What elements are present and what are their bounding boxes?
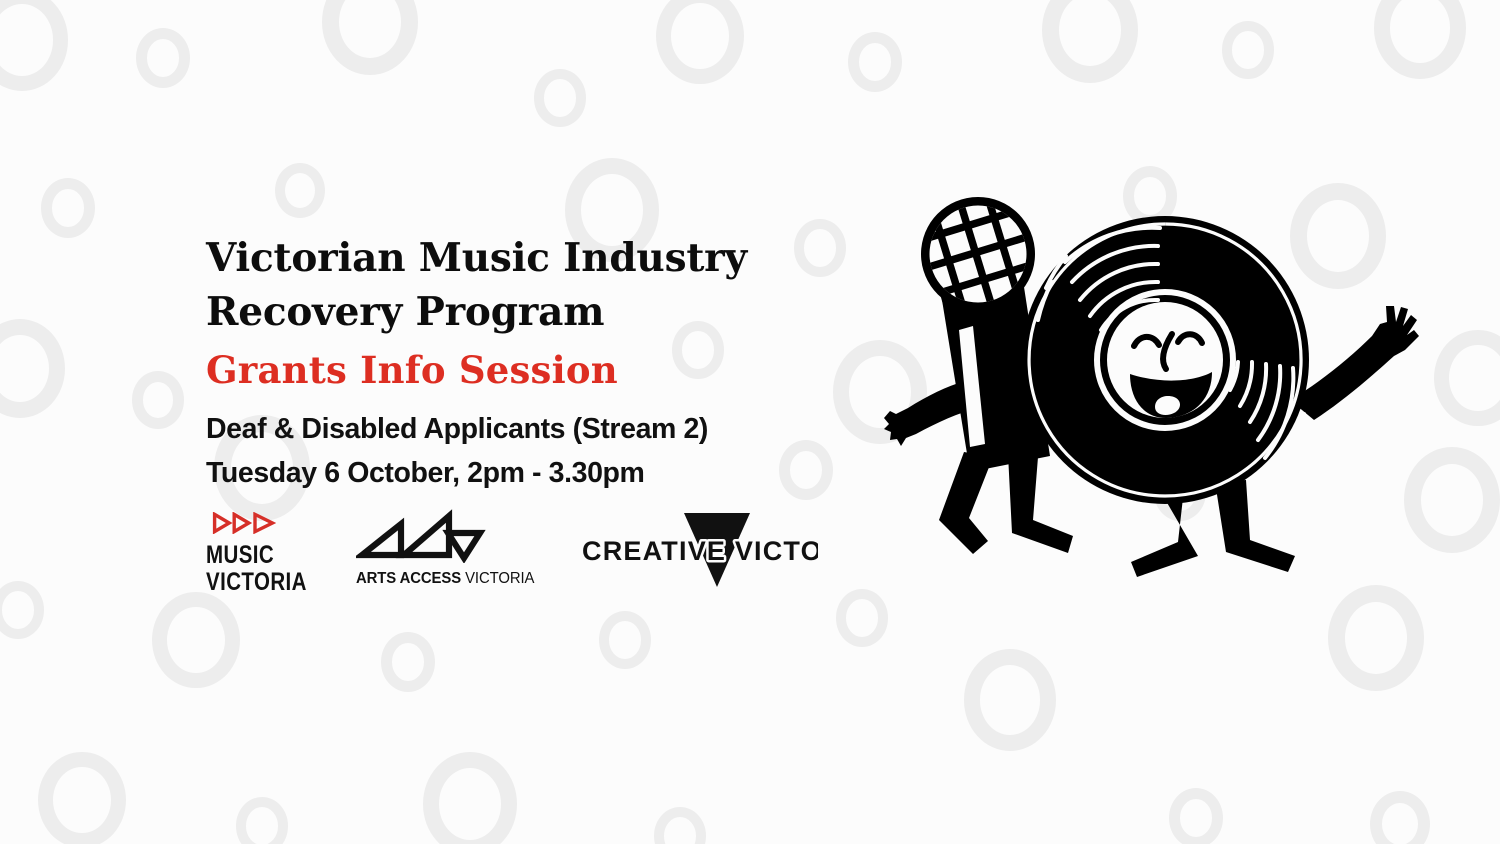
triangles-mountain-icon (356, 508, 486, 563)
background-ring (236, 797, 288, 844)
background-ring (1222, 21, 1274, 78)
background-ring (0, 0, 68, 91)
datetime-line: Tuesday 6 October, 2pm - 3.30pm (206, 452, 866, 495)
background-ring (0, 581, 44, 638)
background-ring (964, 649, 1056, 750)
headline-accent-line: Grants Info Session (206, 343, 866, 397)
aav-word-bold: ARTS ACCESS (356, 570, 461, 587)
arts-access-wordmark: ARTS ACCESS VICTORIA (356, 570, 534, 588)
background-ring (38, 752, 126, 844)
creative-victoria-mark: CREATIVE VICTORIA CREATIVE VICTORIA (578, 505, 818, 595)
background-ring (599, 611, 651, 668)
background-ring (1374, 0, 1466, 79)
background-ring (41, 178, 95, 237)
background-ring (1169, 788, 1223, 844)
background-ring (656, 0, 744, 84)
background-ring (136, 28, 190, 87)
microphone-grille-head (903, 179, 1053, 329)
music-victoria-word-1: MUSIC (206, 542, 298, 569)
audience-line: Deaf & Disabled Applicants (Stream 2) (206, 408, 866, 451)
headline-line-1: Victorian Music Industry (206, 232, 866, 284)
poster-canvas: Victorian Music Industry Recovery Progra… (0, 0, 1500, 844)
vinyl-record-character (1021, 216, 1419, 577)
logo-arts-access-victoria: ARTS ACCESS VICTORIA (356, 505, 542, 588)
logo-music-victoria: MUSIC VICTORIA (206, 505, 318, 596)
record-right-leg (1215, 480, 1295, 572)
text-block: Victorian Music Industry Recovery Progra… (206, 232, 866, 495)
microphone-right-leg (1008, 454, 1073, 553)
background-ring (152, 592, 240, 689)
background-ring (322, 0, 418, 75)
background-ring (381, 632, 435, 691)
background-ring (0, 319, 65, 418)
record-right-arm (1290, 306, 1419, 420)
background-ring (423, 752, 517, 844)
background-ring (534, 69, 586, 126)
background-ring (275, 163, 325, 218)
headline-line-2: Recovery Program (206, 286, 866, 338)
background-ring (1042, 0, 1138, 83)
background-ring (132, 371, 184, 428)
background-ring (1370, 791, 1430, 844)
aav-word-light: VICTORIA (465, 570, 534, 587)
background-ring (848, 32, 902, 91)
creative-victoria-wordmark: CREATIVE VICTORIA (582, 536, 818, 566)
background-ring (1434, 330, 1500, 427)
three-play-triangles-icon (212, 512, 276, 534)
logo-creative-victoria: CREATIVE VICTORIA CREATIVE VICTORIA (578, 505, 818, 595)
illustration-microphone-and-record (860, 170, 1440, 625)
background-ring (654, 807, 706, 844)
logo-row: MUSIC VICTORIA ARTS ACCESS VICTORIA (206, 505, 818, 596)
music-victoria-word-2: VICTORIA (206, 569, 298, 596)
